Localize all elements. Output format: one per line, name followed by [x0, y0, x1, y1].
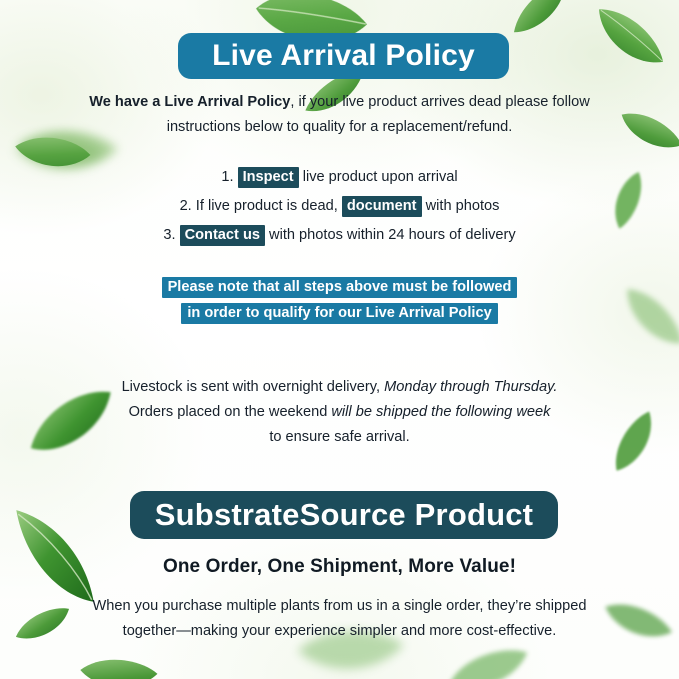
step-after-text: with photos within 24 hours of delivery — [265, 227, 516, 243]
intro-line-1: We have a Live Arrival Policy, if your l… — [0, 90, 679, 115]
shipping-line-3: to ensure safe arrival. — [0, 425, 679, 450]
shipping-line-2-text: Orders placed on the weekend — [129, 404, 332, 420]
intro-line-2: instructions below to quality for a repl… — [0, 115, 679, 140]
live-arrival-policy-title: Live Arrival Policy — [212, 39, 475, 73]
policy-note-text-2: in order to qualify for our Live Arrival… — [181, 303, 497, 324]
step-after-text: live product upon arrival — [299, 169, 458, 185]
step-highlight-document: document — [342, 196, 422, 217]
list-item: 1. Inspect live product upon arrival — [0, 163, 679, 192]
policy-steps-list: 1. Inspect live product upon arrival 2. … — [0, 163, 679, 250]
shipping-line-1: Livestock is sent with overnight deliver… — [0, 375, 679, 400]
list-item: 3. Contact us with photos within 24 hour… — [0, 221, 679, 250]
shipping-line-2: Orders placed on the weekend will be shi… — [0, 400, 679, 425]
intro-lead-text: We have a Live Arrival Policy — [89, 94, 290, 110]
intro-rest-text: , if your live product arrives dead plea… — [290, 94, 589, 110]
step-highlight-inspect: Inspect — [238, 167, 299, 188]
infographic-page: Live Arrival Policy We have a Live Arriv… — [0, 0, 679, 679]
step-number: 2. — [180, 198, 192, 214]
substrate-source-product-banner: SubstrateSource Product — [130, 491, 558, 539]
substrate-source-tagline: One Order, One Shipment, More Value! — [0, 556, 679, 578]
substrate-source-product-title: SubstrateSource Product — [155, 497, 533, 533]
policy-note-text-1: Please note that all steps above must be… — [162, 277, 518, 298]
policy-note-line-1: Please note that all steps above must be… — [0, 274, 679, 300]
bundle-line-2: together—making your experience simpler … — [0, 619, 679, 644]
shipping-line-1-text: Livestock is sent with overnight deliver… — [122, 379, 385, 395]
intro-paragraph: We have a Live Arrival Policy, if your l… — [0, 90, 679, 140]
list-item: 2. If live product is dead, document wit… — [0, 192, 679, 221]
step-number: 1. — [221, 169, 233, 185]
shipping-schedule-paragraph: Livestock is sent with overnight deliver… — [0, 375, 679, 450]
bundle-shipping-paragraph: When you purchase multiple plants from u… — [0, 594, 679, 644]
step-number: 3. — [163, 227, 175, 243]
step-highlight-contact-us: Contact us — [180, 225, 265, 246]
bundle-line-1: When you purchase multiple plants from u… — [0, 594, 679, 619]
shipping-line-1-italic: Monday through Thursday. — [384, 379, 557, 395]
policy-note: Please note that all steps above must be… — [0, 274, 679, 326]
step-after-text: with photos — [422, 198, 500, 214]
shipping-line-2-italic: will be shipped the following week — [331, 404, 550, 420]
step-before-text — [176, 227, 180, 243]
step-before-text: If live product is dead, — [192, 198, 342, 214]
policy-note-line-2: in order to qualify for our Live Arrival… — [0, 300, 679, 326]
live-arrival-policy-banner: Live Arrival Policy — [178, 33, 509, 79]
